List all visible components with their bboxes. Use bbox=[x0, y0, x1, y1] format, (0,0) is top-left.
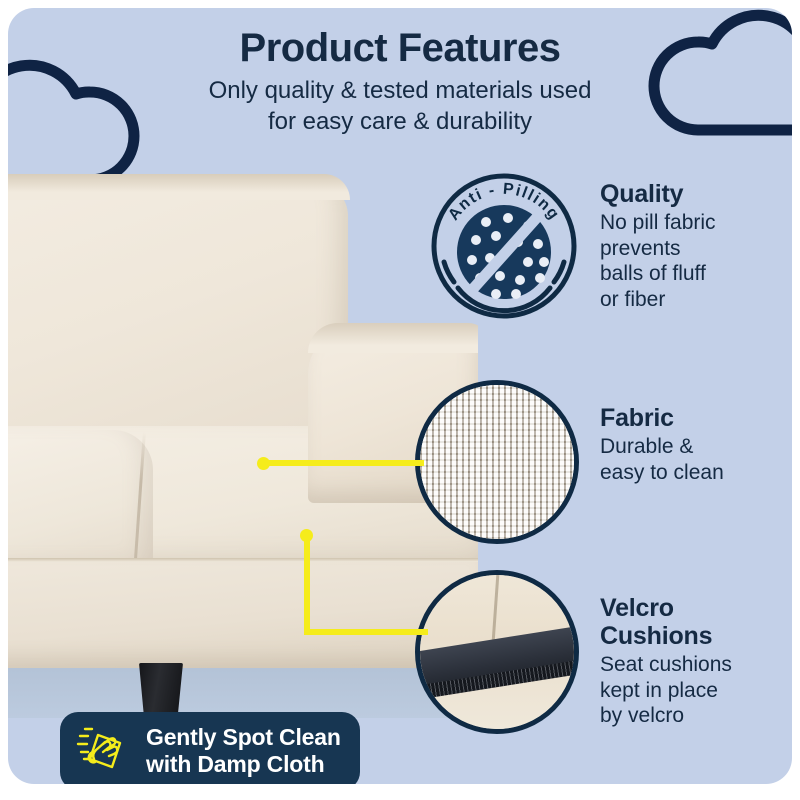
feature-quality-title: Quality bbox=[600, 180, 790, 208]
feature-fabric-desc: Durable & easy to clean bbox=[600, 434, 790, 485]
fabric-weave-texture bbox=[420, 385, 574, 539]
fabric-pointer-line bbox=[264, 460, 424, 466]
sofa-base bbox=[8, 558, 478, 668]
feature-velcro-title-line-1: Velcro bbox=[600, 594, 790, 622]
sofa-arm-top-edge bbox=[308, 323, 478, 353]
page-subtitle: Only quality & tested materials used for… bbox=[8, 75, 792, 138]
spot-clean-line-1: Gently Spot Clean bbox=[146, 724, 341, 751]
feature-velcro-desc: Seat cushions kept in place by velcro bbox=[600, 652, 790, 729]
feature-velcro-title: Velcro Cushions bbox=[600, 594, 790, 650]
feature-fabric-text: Fabric Durable & easy to clean bbox=[600, 404, 790, 485]
header-block: Product Features Only quality & tested m… bbox=[8, 26, 792, 138]
feature-quality-desc-line-3: balls of fluff bbox=[600, 261, 790, 287]
feature-velcro-desc-line-2: kept in place bbox=[600, 678, 790, 704]
feature-quality-desc-line-2: prevents bbox=[600, 236, 790, 262]
spot-clean-badge[interactable]: Gently Spot Clean with Damp Cloth bbox=[60, 712, 360, 784]
hand-wiping-cloth-icon bbox=[76, 723, 132, 780]
feature-velcro-text: Velcro Cushions Seat cushions kept in pl… bbox=[600, 594, 790, 729]
feature-quality-desc: No pill fabric prevents balls of fluff o… bbox=[600, 210, 790, 312]
subtitle-line-2: for easy care & durability bbox=[8, 106, 792, 138]
spot-clean-line-2: with Damp Cloth bbox=[146, 751, 341, 778]
subtitle-line-1: Only quality & tested materials used bbox=[8, 75, 792, 107]
fabric-closeup-circle bbox=[415, 380, 579, 544]
page-title: Product Features bbox=[8, 26, 792, 71]
feature-velcro-desc-line-3: by velcro bbox=[600, 703, 790, 729]
feature-velcro-desc-line-1: Seat cushions bbox=[600, 652, 790, 678]
feature-fabric-desc-line-1: Durable & bbox=[600, 434, 790, 460]
feature-quality-desc-line-1: No pill fabric bbox=[600, 210, 790, 236]
infographic-canvas: Product Features Only quality & tested m… bbox=[0, 0, 800, 800]
velcro-pointer-line-horizontal bbox=[304, 629, 428, 635]
product-feature-card: Product Features Only quality & tested m… bbox=[8, 8, 792, 784]
velcro-pointer-line-vertical bbox=[304, 535, 310, 635]
sofa-seat-cushion-left bbox=[8, 430, 153, 578]
feature-velcro-title-line-2: Cushions bbox=[600, 622, 790, 650]
sofa-leg bbox=[139, 663, 183, 718]
feature-fabric-title: Fabric bbox=[600, 404, 790, 432]
feature-fabric-desc-line-2: easy to clean bbox=[600, 460, 790, 486]
feature-quality-desc-line-4: or fiber bbox=[600, 287, 790, 313]
spot-clean-label: Gently Spot Clean with Damp Cloth bbox=[146, 724, 341, 778]
anti-pilling-badge-icon: Anti - Pilling bbox=[428, 170, 580, 322]
velcro-closeup-circle bbox=[415, 570, 579, 734]
sofa-base-seam bbox=[8, 558, 478, 562]
sofa-back-top-edge bbox=[8, 174, 350, 200]
feature-quality-text: Quality No pill fabric prevents balls of… bbox=[600, 180, 790, 312]
